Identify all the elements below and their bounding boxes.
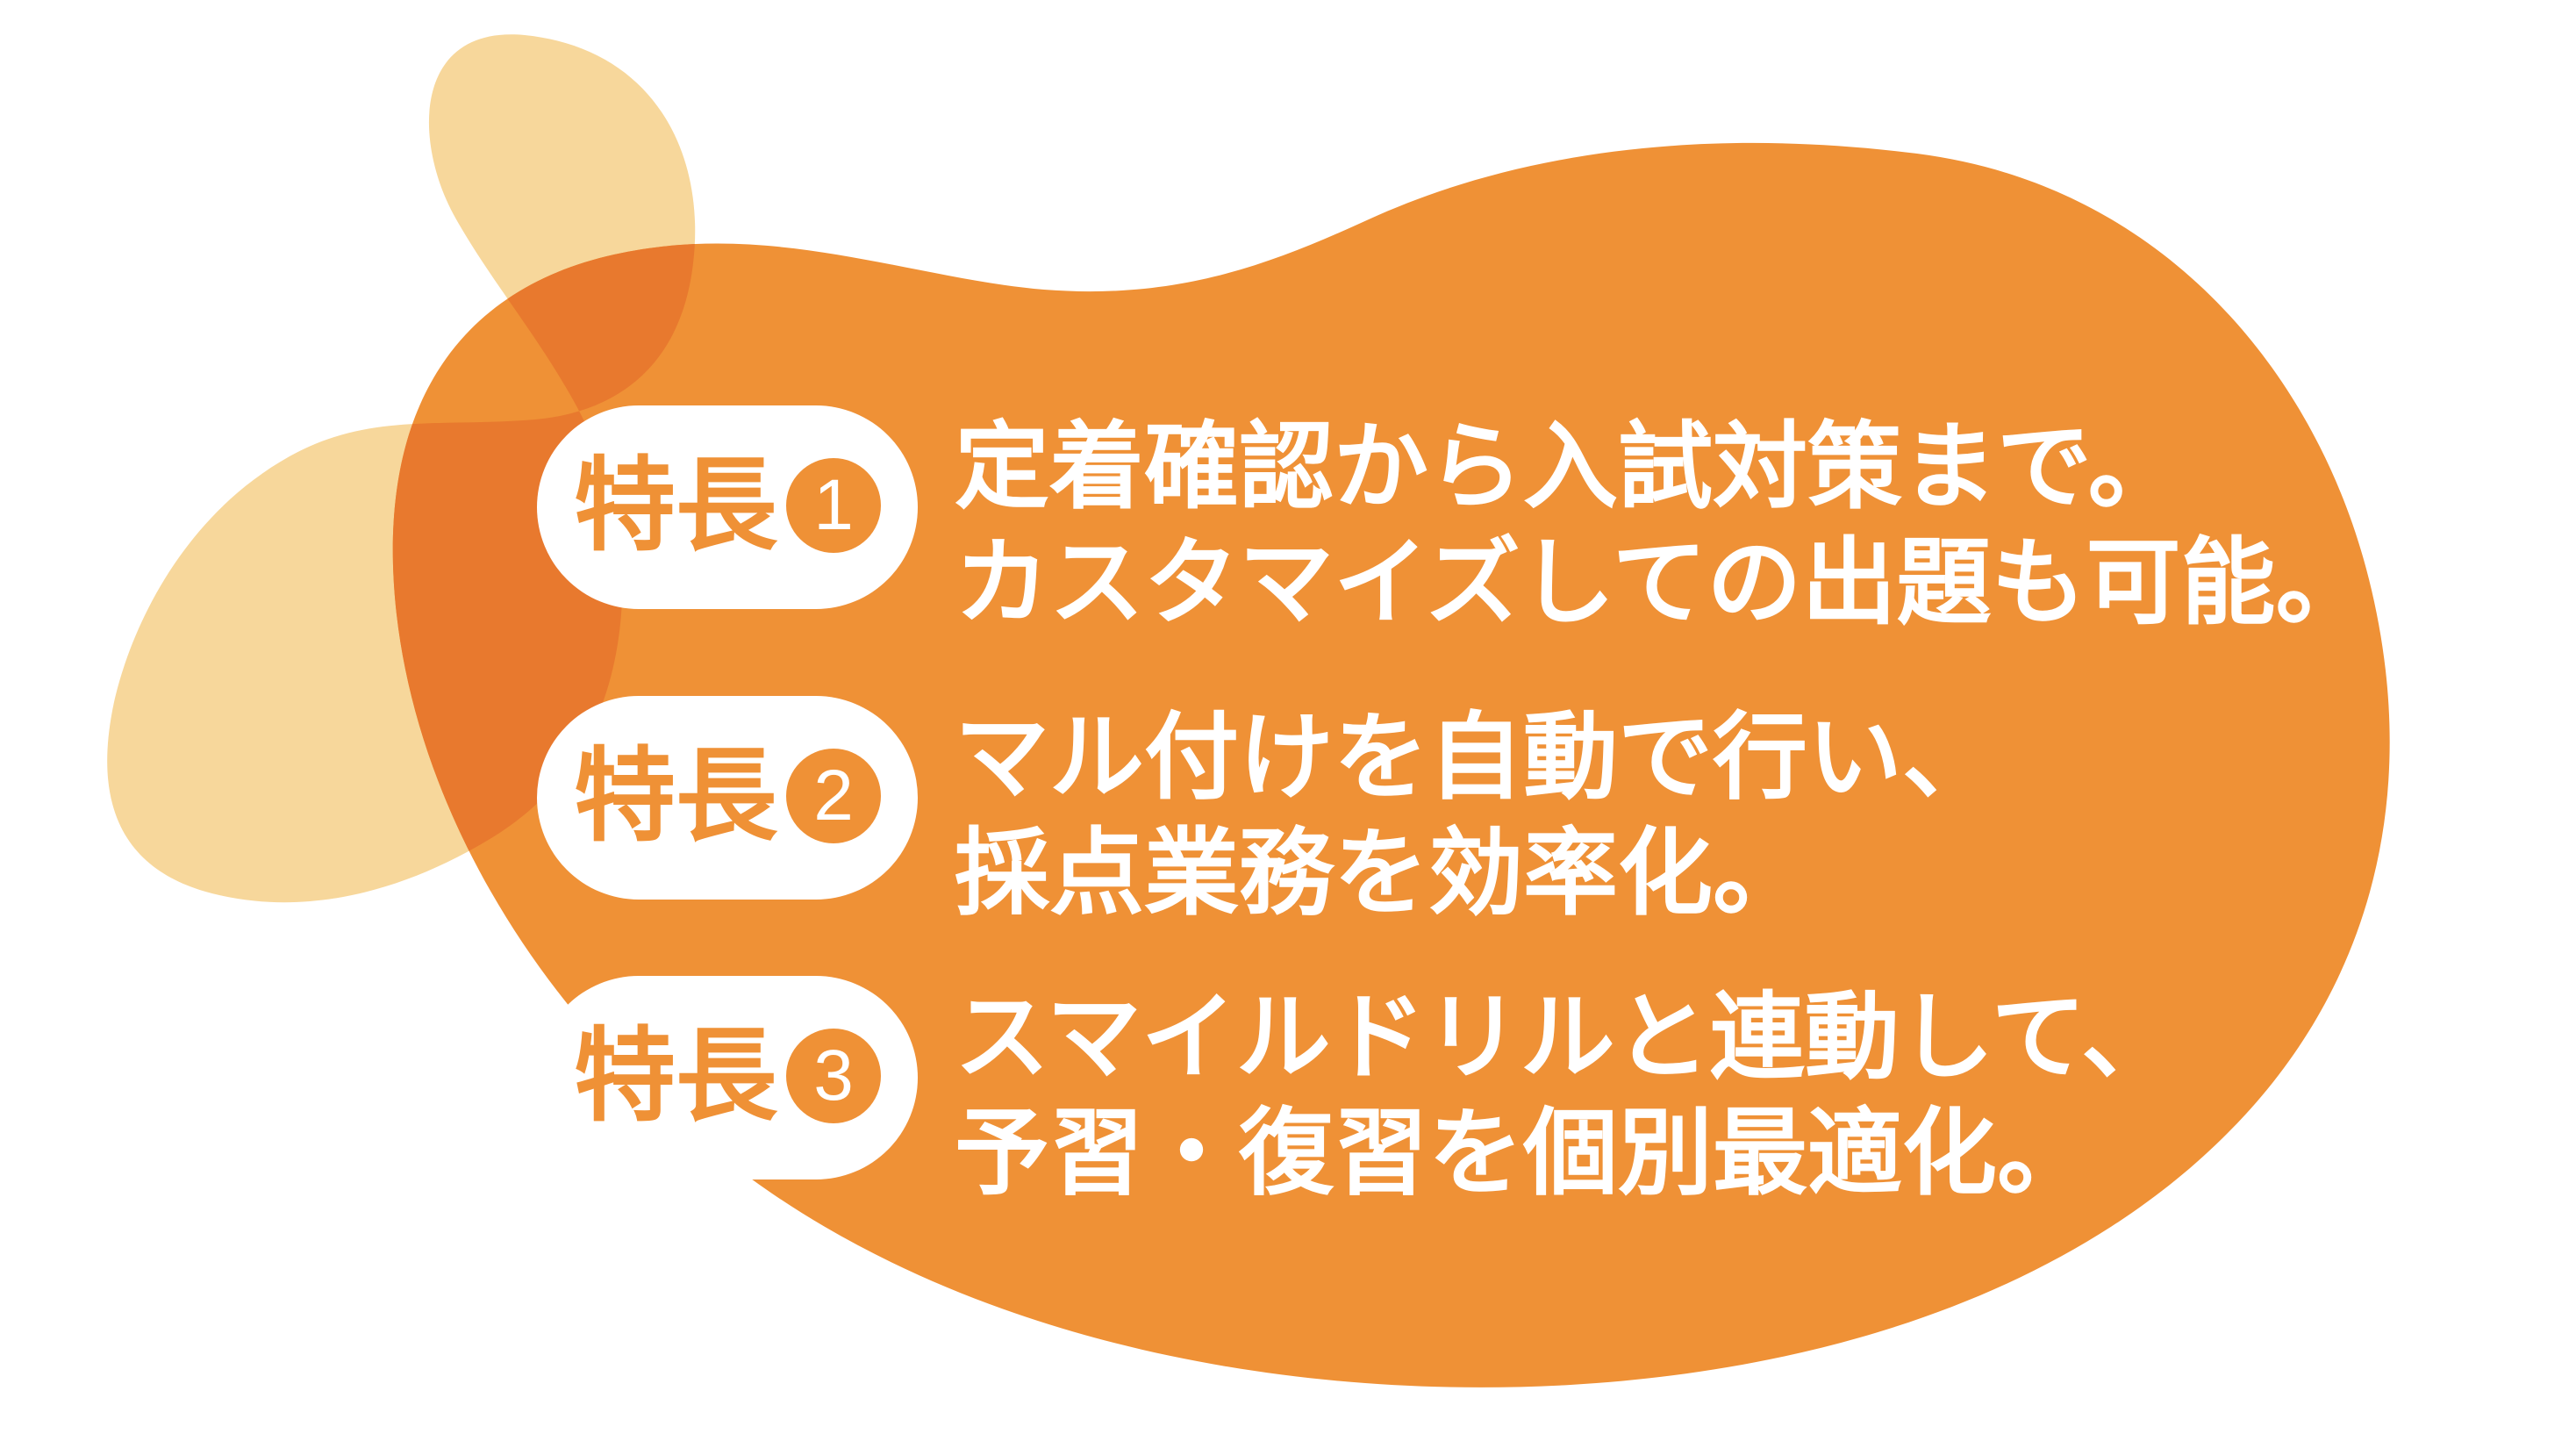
feature-badge-1: 特長 1 [537,405,918,609]
badge-label: 特長 [574,455,777,556]
feature-text-line-2: 予習・復習を個別最適化。 [955,1095,2176,1211]
feature-text-3: スマイルドリルと連動して、 予習・復習を個別最適化。 [955,976,2176,1211]
feature-badge-3: 特長 3 [537,976,918,1179]
feature-text-1: 定着確認から入試対策まで。 カスタマイズしての出題も可能。 [955,405,2371,641]
feature-text-line-1: マル付けを自動で行い、 [955,699,1997,815]
feature-text-2: マル付けを自動で行い、 採点業務を効率化。 [955,696,1997,931]
badge-inner: 特長 3 [574,1025,881,1127]
feature-item-1: 特長 1 定着確認から入試対策まで。 カスタマイズしての出題も可能。 [537,405,2371,641]
feature-item-3: 特長 3 スマイルドリルと連動して、 予習・復習を個別最適化。 [537,976,2176,1211]
feature-badge-2: 特長 2 [537,696,918,900]
badge-number: 3 [786,1029,881,1123]
feature-text-line-2: カスタマイズしての出題も可能。 [955,525,2371,641]
feature-text-line-2: 採点業務を効率化。 [955,815,1997,931]
badge-label: 特長 [574,1025,777,1127]
feature-item-2: 特長 2 マル付けを自動で行い、 採点業務を効率化。 [537,696,1997,931]
feature-list: 特長 1 定着確認から入試対策まで。 カスタマイズしての出題も可能。 特長 2 … [0,0,2576,1434]
promo-graphic: 特長 1 定着確認から入試対策まで。 カスタマイズしての出題も可能。 特長 2 … [0,0,2576,1434]
badge-label: 特長 [574,745,777,847]
feature-text-line-1: 定着確認から入試対策まで。 [955,409,2371,525]
badge-inner: 特長 1 [574,455,881,556]
feature-text-line-1: スマイルドリルと連動して、 [955,979,2176,1095]
badge-number: 1 [786,458,881,553]
badge-number: 2 [786,749,881,843]
badge-inner: 特長 2 [574,745,881,847]
